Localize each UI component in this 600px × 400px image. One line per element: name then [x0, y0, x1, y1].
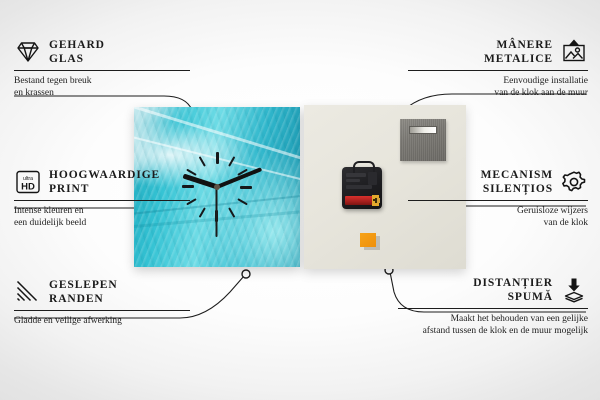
- infographic-canvas: GEHARDGLAS Bestand tegen breuken krassen…: [0, 0, 600, 400]
- clock-center-cap: [214, 184, 220, 190]
- movement-detail: [346, 185, 372, 189]
- movement-detail: [368, 172, 377, 185]
- feature-mecanism-silentios: MECANISMSILENȚIOS Geruisloze wijzersvan …: [408, 168, 588, 229]
- feature-title: HOOGWAARDIGEPRINT: [49, 168, 160, 196]
- feature-header: DISTANȚIERSPUMĂ: [398, 276, 588, 304]
- feature-divider: [14, 70, 190, 71]
- feature-divider: [14, 310, 190, 311]
- feature-title: DISTANȚIERSPUMĂ: [473, 276, 553, 304]
- ultra-hd-icon: ultra HD: [14, 168, 42, 196]
- feature-header: MECANISMSILENȚIOS: [408, 168, 588, 196]
- feature-title: GEHARDGLAS: [49, 38, 105, 66]
- feature-hoogwaardige-print: ultra HD HOOGWAARDIGEPRINT Intense kleur…: [14, 168, 190, 229]
- movement-detail: [346, 173, 366, 177]
- foam-spacer-stack-icon: [560, 276, 588, 304]
- feature-title: MÂNEREMETALICE: [484, 38, 553, 66]
- battery: [345, 196, 377, 205]
- polished-edges-icon: [14, 278, 42, 306]
- feature-description: Gladde en veilige afwerking: [14, 315, 190, 327]
- feature-description: Geruisloze wijzersvan de klok: [408, 205, 588, 229]
- feature-description: Intense kleuren eneen duidelijk beeld: [14, 205, 190, 229]
- metal-hanger-plate: [400, 119, 446, 161]
- feature-title: GESLEPENRANDEN: [49, 278, 118, 306]
- feature-manere-metalice: MÂNEREMETALICE Eenvoudige installatievan…: [408, 38, 588, 99]
- foam-spacer: [360, 233, 376, 247]
- feature-description: Bestand tegen breuken krassen: [14, 75, 190, 99]
- feature-header: MÂNEREMETALICE: [408, 38, 588, 66]
- feature-title: MECANISMSILENȚIOS: [481, 168, 553, 196]
- diamond-icon: [14, 38, 42, 66]
- battery-plus-terminal: [372, 195, 379, 206]
- movement-detail: [346, 179, 360, 182]
- svg-text:HD: HD: [21, 182, 35, 193]
- picture-frame-hanging-icon: [560, 38, 588, 66]
- feature-gehard-glas: GEHARDGLAS Bestand tegen breuken krassen: [14, 38, 190, 99]
- feature-divider: [398, 308, 588, 309]
- feature-header: GEHARDGLAS: [14, 38, 190, 66]
- quartz-movement: [342, 167, 382, 209]
- feature-header: ultra HD HOOGWAARDIGEPRINT: [14, 168, 190, 196]
- feature-divider: [408, 200, 588, 201]
- feature-description: Eenvoudige installatievan de klok aan de…: [408, 75, 588, 99]
- feature-divider: [14, 200, 190, 201]
- feature-divider: [408, 70, 588, 71]
- feature-description: Maakt het behouden van een gelijkeafstan…: [398, 313, 588, 337]
- hanger-slot: [409, 126, 437, 134]
- gear-icon: [560, 168, 588, 196]
- feature-distantier-spuma: DISTANȚIERSPUMĂ Maakt het behouden van e…: [398, 276, 588, 337]
- feature-geslepen-randen: GESLEPENRANDEN Gladde en veilige afwerki…: [14, 278, 190, 327]
- feature-header: GESLEPENRANDEN: [14, 278, 190, 306]
- connector-dot-edges: [242, 270, 250, 278]
